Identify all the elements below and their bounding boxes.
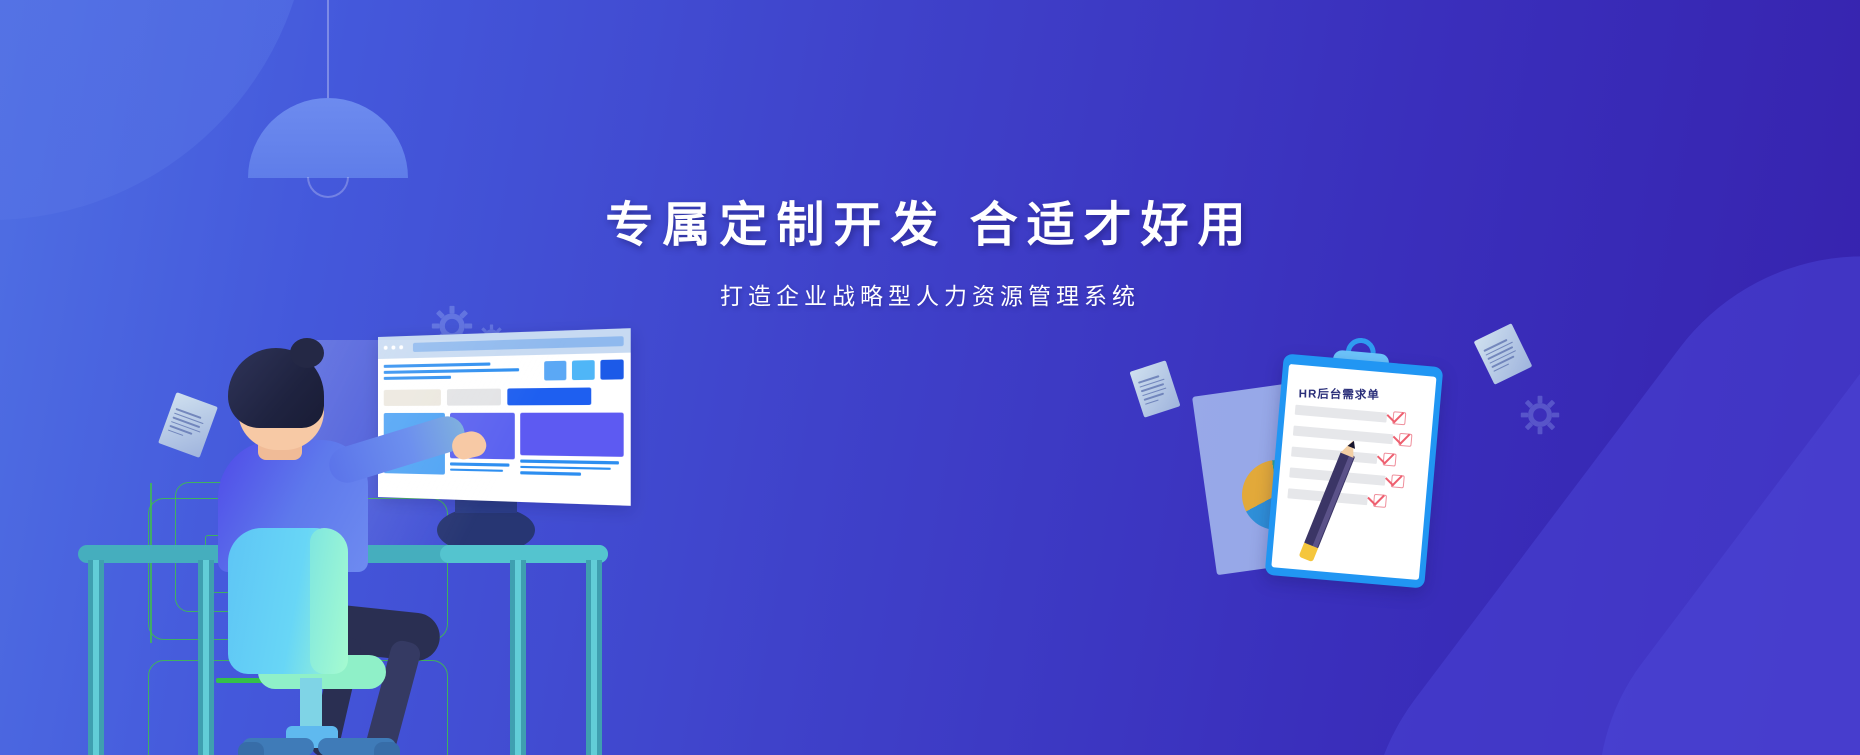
clipboard-title: HR后台需求单 xyxy=(1299,385,1427,403)
content-header-row xyxy=(384,359,624,382)
lamp-shade-icon xyxy=(248,98,408,178)
hero-banner: HR后台需求单 xyxy=(0,0,1860,755)
clipboard-checklist xyxy=(1285,402,1425,510)
floating-paper-right xyxy=(1474,323,1533,385)
floating-paper-left xyxy=(158,392,218,458)
header-tile-2 xyxy=(572,360,595,380)
chip-gray xyxy=(447,389,501,406)
desk-leg-right xyxy=(510,560,526,755)
checkbox-checked-icon xyxy=(1391,474,1405,488)
checklist-item xyxy=(1295,403,1426,427)
clipboard-board: HR后台需求单 xyxy=(1265,353,1444,588)
lamp-wire-icon xyxy=(327,0,329,100)
header-text-lines xyxy=(384,361,539,380)
window-dot-icon xyxy=(391,345,395,349)
window-dot-icon xyxy=(399,345,403,349)
checkbox-checked-icon xyxy=(1383,453,1397,467)
floating-paper-center-right xyxy=(1130,360,1181,417)
checklist-bar xyxy=(1291,446,1378,463)
gear-right-icon xyxy=(1520,395,1560,435)
window-dot-icon xyxy=(384,346,388,350)
banner-text-block: 专属定制开发 合适才好用 打造企业战略型人力资源管理系统 xyxy=(0,198,1860,311)
lamp-bulb-icon xyxy=(307,177,349,198)
card-caption-lines xyxy=(450,462,515,472)
header-tile-3 xyxy=(600,359,623,379)
checklist-item xyxy=(1289,465,1420,489)
card-violet xyxy=(520,413,623,457)
chair-wheel-right xyxy=(374,742,400,755)
chair-wheel-left xyxy=(238,742,264,755)
checkbox-checked-icon xyxy=(1373,494,1387,508)
checklist-bar xyxy=(1295,404,1388,422)
clipboard-illustration: HR后台需求单 xyxy=(1190,330,1470,630)
clipboard-sheet: HR后台需求单 xyxy=(1271,364,1436,580)
chip-cream xyxy=(384,389,441,406)
desk-leg-far-right xyxy=(586,560,602,755)
checkbox-checked-icon xyxy=(1392,411,1406,425)
wireframe-outline-6 xyxy=(150,483,152,643)
checklist-bar xyxy=(1293,425,1393,444)
desk-leg-left xyxy=(88,560,104,755)
background-circle-top-left xyxy=(0,0,310,220)
page-title: 专属定制开发 合适才好用 xyxy=(0,198,1860,255)
chip-blue xyxy=(507,387,591,405)
person-hair-bun xyxy=(290,338,324,368)
chair-post xyxy=(300,678,322,732)
checkbox-checked-icon xyxy=(1398,433,1412,447)
checklist-item xyxy=(1287,486,1418,510)
header-tile-1 xyxy=(544,361,566,381)
monitor-screen xyxy=(378,328,631,506)
address-bar xyxy=(413,336,624,352)
content-chip-row xyxy=(384,387,624,406)
page-subtitle: 打造企业战略型人力资源管理系统 xyxy=(0,277,1860,311)
card-caption-lines-2 xyxy=(520,459,623,476)
desk-leg-mid xyxy=(198,560,214,755)
chair-backrest-edge xyxy=(310,528,348,674)
